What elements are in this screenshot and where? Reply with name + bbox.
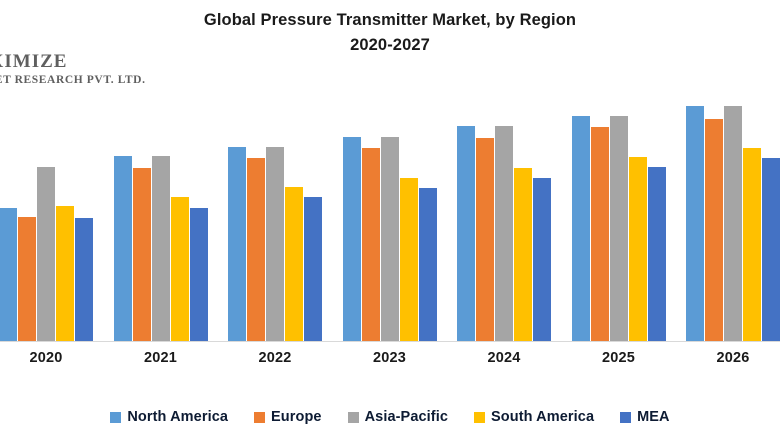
bar-2024-asia-pacific[interactable]	[495, 126, 513, 341]
bar-2025-asia-pacific[interactable]	[610, 116, 628, 341]
bar-2026-north-america[interactable]	[686, 106, 704, 341]
bar-2022-asia-pacific[interactable]	[266, 147, 284, 341]
bar-group-2026	[686, 81, 780, 341]
bar-2023-mea[interactable]	[419, 188, 437, 341]
chart-title-line1: Global Pressure Transmitter Market, by R…	[204, 11, 576, 29]
bar-2021-south-america[interactable]	[171, 197, 189, 341]
bar-2025-north-america[interactable]	[572, 116, 590, 341]
bar-2021-asia-pacific[interactable]	[152, 156, 170, 341]
bar-2024-mea[interactable]	[533, 178, 551, 341]
bar-2020-asia-pacific[interactable]	[37, 167, 55, 341]
bar-2025-europe[interactable]	[591, 127, 609, 341]
bar-2020-mea[interactable]	[75, 218, 93, 341]
legend-swatch-mea	[620, 412, 631, 423]
bar-2021-mea[interactable]	[190, 208, 208, 341]
legend-label-europe: Europe	[271, 409, 322, 425]
chart-title: Global Pressure Transmitter Market, by R…	[0, 8, 780, 58]
bar-2025-mea[interactable]	[648, 167, 666, 341]
bar-2021-europe[interactable]	[133, 168, 151, 341]
legend-item-north-america[interactable]: North America	[110, 409, 228, 425]
legend-item-mea[interactable]: MEA	[620, 409, 670, 425]
x-axis-label-2026: 2026	[666, 350, 780, 366]
bar-2020-south-america[interactable]	[56, 206, 74, 341]
bar-2025-south-america[interactable]	[629, 157, 647, 341]
bar-group-2020	[0, 81, 93, 341]
legend-swatch-asia-pacific	[348, 412, 359, 423]
bar-group-2025	[572, 81, 666, 341]
chart-container: Global Pressure Transmitter Market, by R…	[0, 0, 780, 440]
bar-group-2022	[228, 81, 322, 341]
bar-2023-north-america[interactable]	[343, 137, 361, 341]
legend-label-asia-pacific: Asia-Pacific	[365, 409, 448, 425]
bar-group-2021	[114, 81, 208, 341]
bar-2022-europe[interactable]	[247, 158, 265, 341]
bar-2026-europe[interactable]	[705, 119, 723, 341]
bar-2022-north-america[interactable]	[228, 147, 246, 341]
bar-2023-europe[interactable]	[362, 148, 380, 341]
legend-item-asia-pacific[interactable]: Asia-Pacific	[348, 409, 448, 425]
legend-swatch-europe	[254, 412, 265, 423]
bar-2023-south-america[interactable]	[400, 178, 418, 341]
bar-2024-south-america[interactable]	[514, 168, 532, 341]
bar-2026-mea[interactable]	[762, 158, 780, 341]
bar-group-2023	[343, 81, 437, 341]
bar-2023-asia-pacific[interactable]	[381, 137, 399, 341]
bar-2022-mea[interactable]	[304, 197, 322, 341]
legend-label-mea: MEA	[637, 409, 670, 425]
bar-2021-north-america[interactable]	[114, 156, 132, 341]
bar-2020-europe[interactable]	[18, 217, 36, 341]
legend-item-south-america[interactable]: South America	[474, 409, 594, 425]
bar-2024-north-america[interactable]	[457, 126, 475, 341]
legend-swatch-south-america	[474, 412, 485, 423]
chart-legend: North AmericaEuropeAsia-PacificSouth Ame…	[0, 404, 780, 430]
plot-area	[0, 80, 780, 342]
bar-2024-europe[interactable]	[476, 138, 494, 341]
legend-item-europe[interactable]: Europe	[254, 409, 322, 425]
bar-2026-asia-pacific[interactable]	[724, 106, 742, 341]
legend-swatch-north-america	[110, 412, 121, 423]
x-axis-line	[0, 341, 780, 343]
bar-2026-south-america[interactable]	[743, 148, 761, 341]
bar-2022-south-america[interactable]	[285, 187, 303, 341]
legend-label-north-america: North America	[127, 409, 228, 425]
bar-group-2024	[457, 81, 551, 341]
legend-label-south-america: South America	[491, 409, 594, 425]
bar-2020-north-america[interactable]	[0, 208, 17, 341]
x-axis-labels: 2020202120222023202420252026	[0, 350, 780, 376]
chart-title-line2: 2020-2027	[0, 33, 780, 58]
